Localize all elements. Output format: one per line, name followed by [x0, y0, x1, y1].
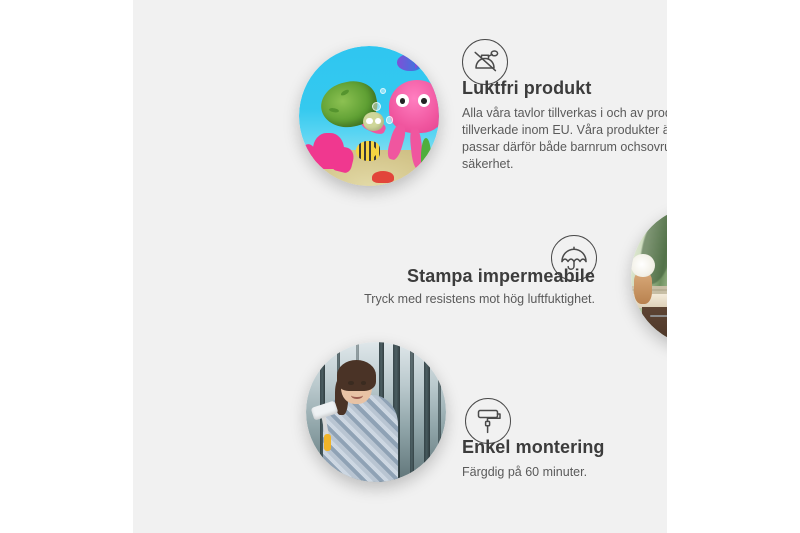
yellow-striped-fish — [356, 141, 380, 161]
feature-body-odorless: Alla våra tavlor tillverkas i och av pro… — [462, 105, 667, 173]
feature-heading-easy-install: Enkel montering — [462, 437, 667, 458]
blue-fish — [397, 54, 422, 71]
octopus-eye-right — [418, 94, 430, 107]
feature-body-waterproof: Tryck med resistens mot hög luftfuktighe… — [323, 291, 595, 308]
photo-underwater-sea-life — [299, 46, 439, 186]
vase — [634, 273, 652, 304]
tree-trunk — [424, 342, 430, 482]
photo-woman-with-paint-roller — [306, 342, 446, 482]
wood-vanity-cabinet — [642, 307, 667, 346]
photo-bathroom-tropical-wallpaper — [631, 206, 667, 346]
feature-block-easy-install: Enkel montering Färgdig på 60 minuter. — [462, 437, 667, 481]
turtle-flipper — [329, 108, 340, 114]
tree-trunk — [438, 342, 442, 482]
feature-heading-waterproof: Stampa impermeabile — [323, 266, 595, 287]
feature-heading-odorless: Luktfri produkt — [462, 78, 667, 99]
feature-block-odorless: Luktfri produkt Alla våra tavlor tillver… — [462, 78, 667, 173]
white-flowers — [631, 254, 655, 278]
bubble — [372, 102, 381, 111]
tree-trunk — [410, 342, 414, 482]
product-feature-infographic: Luktfri produkt Alla våra tavlor tillver… — [0, 0, 800, 533]
octopus-eye-left — [396, 94, 408, 107]
content-canvas: Luktfri produkt Alla våra tavlor tillver… — [133, 0, 667, 533]
feature-block-waterproof: Stampa impermeabile Tryck med resistens … — [323, 266, 595, 308]
roller-grip — [324, 434, 331, 451]
woman-smile — [351, 391, 364, 399]
crab — [372, 171, 394, 184]
feature-body-easy-install: Färgdig på 60 minuter. — [462, 464, 667, 481]
turtle-flipper — [341, 89, 351, 97]
woman-eye — [361, 381, 367, 385]
seaweed — [421, 138, 431, 174]
woman-hair — [337, 360, 376, 391]
woman-eye — [348, 381, 354, 385]
bubble — [386, 116, 394, 124]
